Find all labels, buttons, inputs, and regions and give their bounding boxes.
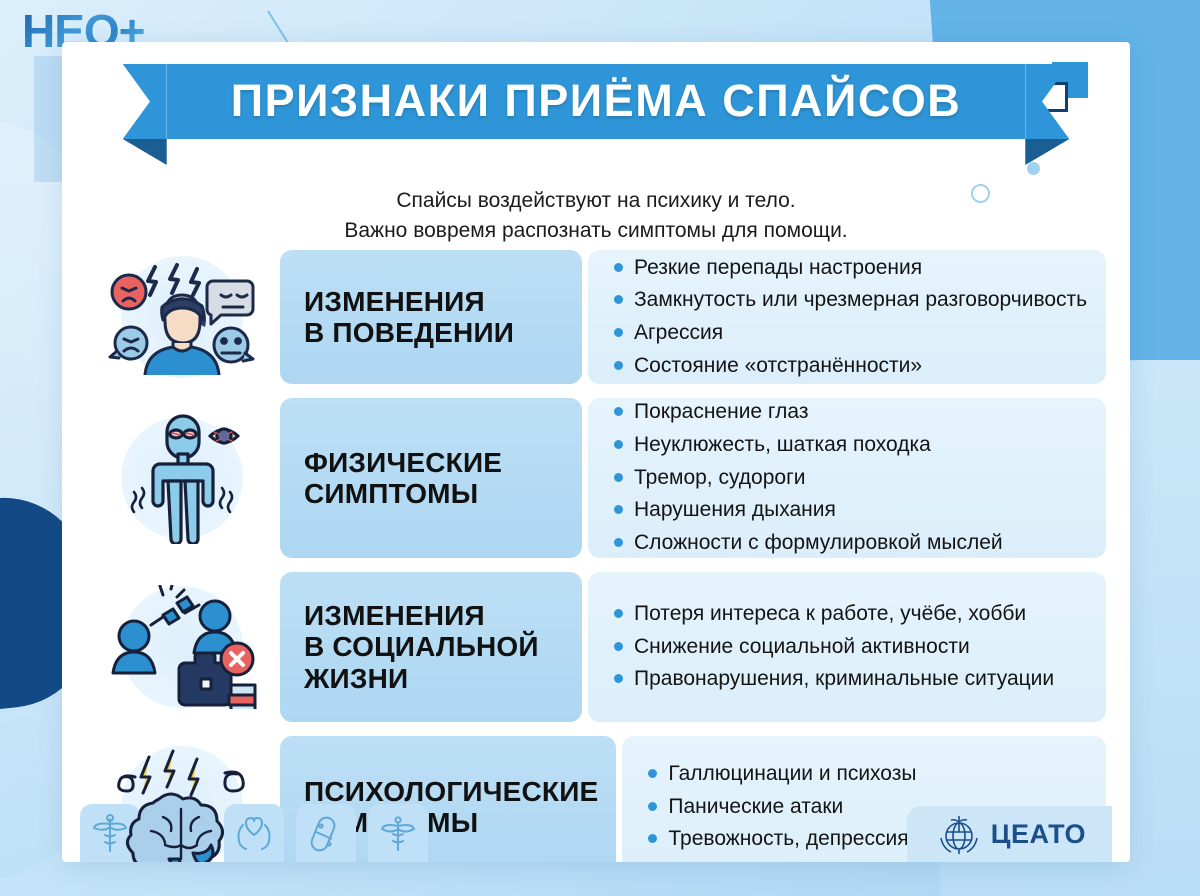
bullet-item: Агрессия [614,317,1088,350]
bullet-item: Покраснение глаз [614,396,1088,429]
bullet-text: Неуклюжесть, шаткая походка [634,430,931,461]
bullet-text: Нарушения дыхания [634,495,836,526]
bullet-dot-icon [614,295,623,304]
angry-person-mood-swings-icon [107,259,257,375]
section-bullets: Потеря интереса к работе, учёбе, хобби С… [588,572,1106,722]
footer-brand-name: ЦЕАТО [991,819,1086,850]
bullet-text: Замкнутость или чрезмерная разговорчивос… [634,285,1087,316]
bullet-item: Замкнутость или чрезмерная разговорчивос… [614,284,1088,317]
bullet-text: Галлюцинации и психозы [668,759,916,790]
ribbon-tail-left [123,64,167,139]
section-row: ИЗМЕНЕНИЯ В ПОВЕДЕНИИ Резкие перепады на… [84,250,1106,384]
section-icon-slot [84,398,280,558]
winged-caduceus-icon [380,814,416,852]
section-icon-slot [84,572,280,722]
bullet-item: Правонарушения, криминальные ситуации [614,663,1088,696]
bullet-text: Резкие перепады настроения [634,253,922,284]
bullet-dot-icon [614,263,623,272]
bullet-dot-icon [614,473,623,482]
bullet-item: Галлюцинации и психозы [648,758,1088,791]
bullet-text: Агрессия [634,318,723,349]
bullet-dot-icon [614,674,623,683]
bullet-text: Тремор, судороги [634,463,805,494]
footer-icon-cell [368,804,428,862]
bullet-text: Потеря интереса к работе, учёбе, хобби [634,599,1026,630]
ribbon-tail-right [1025,64,1069,139]
decor-circle-filled [1027,162,1040,175]
bullet-text: Снижение социальной активности [634,632,970,663]
trembling-body-red-eye-icon [112,412,252,544]
section-bullets: Резкие перепады настроения Замкнутость и… [588,250,1106,384]
section-label: ФИЗИЧЕСКИЕ СИМПТОМЫ [280,398,582,558]
pill-icon [310,814,342,852]
bullet-dot-icon [614,609,623,618]
brain-lightning-icon [107,745,257,862]
subtitle-line-1: Спайсы воздействуют на психику и тело. [182,186,1010,216]
subtitle-line-2: Важно вовремя распознать симптомы для по… [182,216,1010,246]
section-row: ФИЗИЧЕСКИЕ СИМПТОМЫ Покраснение глаз Неу… [84,398,1106,558]
bullet-dot-icon [614,440,623,449]
section-bullets: Покраснение глаз Неуклюжесть, шаткая пох… [588,398,1106,558]
bullet-dot-icon [614,361,623,370]
section-label: ИЗМЕНЕНИЯ В ПОВЕДЕНИИ [280,250,582,384]
poster-card: ПРИЗНАКИ ПРИЁМА СПАЙСОВ Спайсы воздейств… [62,42,1130,862]
who-style-emblem-icon [937,812,981,856]
bullet-item: Снижение социальной активности [614,631,1088,664]
infographic-poster: НЕО+ ПРИЗНАКИ ПРИЁМА СПАЙСОВ Спайсы возд… [0,0,1200,896]
bullet-item: Потеря интереса к работе, учёбе, хобби [614,598,1088,631]
bullet-item: Сложности с формулировкой мыслей [614,527,1088,560]
sections-list: ИЗМЕНЕНИЯ В ПОВЕДЕНИИ Резкие перепады на… [84,250,1106,862]
ribbon-fold-right [1025,139,1069,165]
bullet-text: Покраснение глаз [634,397,808,428]
section-label-text: ИЗМЕНЕНИЯ В СОЦИАЛЬНОЙ ЖИЗНИ [304,600,539,694]
bullet-dot-icon [614,505,623,514]
bullet-item: Тремор, судороги [614,462,1088,495]
section-label-text: ФИЗИЧЕСКИЕ СИМПТОМЫ [304,447,502,510]
footer-brand: ЦЕАТО [907,806,1112,862]
bullet-item: Состояние «отстранённости» [614,350,1088,383]
bullet-item: Резкие перепады настроения [614,252,1088,285]
bullet-dot-icon [614,407,623,416]
section-icon-slot [84,250,280,384]
bullet-text: Сложности с формулировкой мыслей [634,528,1003,559]
section-label-text: ИЗМЕНЕНИЯ В ПОВЕДЕНИИ [304,286,514,349]
bullet-dot-icon [614,328,623,337]
section-row: ИЗМЕНЕНИЯ В СОЦИАЛЬНОЙ ЖИЗНИ Потеря инте… [84,572,1106,722]
bullet-text: Состояние «отстранённости» [634,351,922,382]
ribbon-fold-left [123,139,167,165]
subtitle: Спайсы воздействуют на психику и тело. В… [62,186,1130,246]
bullet-item: Нарушения дыхания [614,494,1088,527]
page-title: ПРИЗНАКИ ПРИЁМА СПАЙСОВ [231,78,962,123]
bullet-item: Неуклюжесть, шаткая походка [614,429,1088,462]
bullet-dot-icon [648,769,657,778]
bullet-dot-icon [614,642,623,651]
section-icon-slot [84,736,280,862]
bullet-dot-icon [614,538,623,547]
section-label: ИЗМЕНЕНИЯ В СОЦИАЛЬНОЙ ЖИЗНИ [280,572,582,722]
bullet-text: Правонарушения, криминальные ситуации [634,664,1054,695]
footer-icon-cell [296,804,356,862]
title-ribbon: ПРИЗНАКИ ПРИЁМА СПАЙСОВ [62,64,1130,139]
broken-social-link-briefcase-icon [107,585,257,709]
